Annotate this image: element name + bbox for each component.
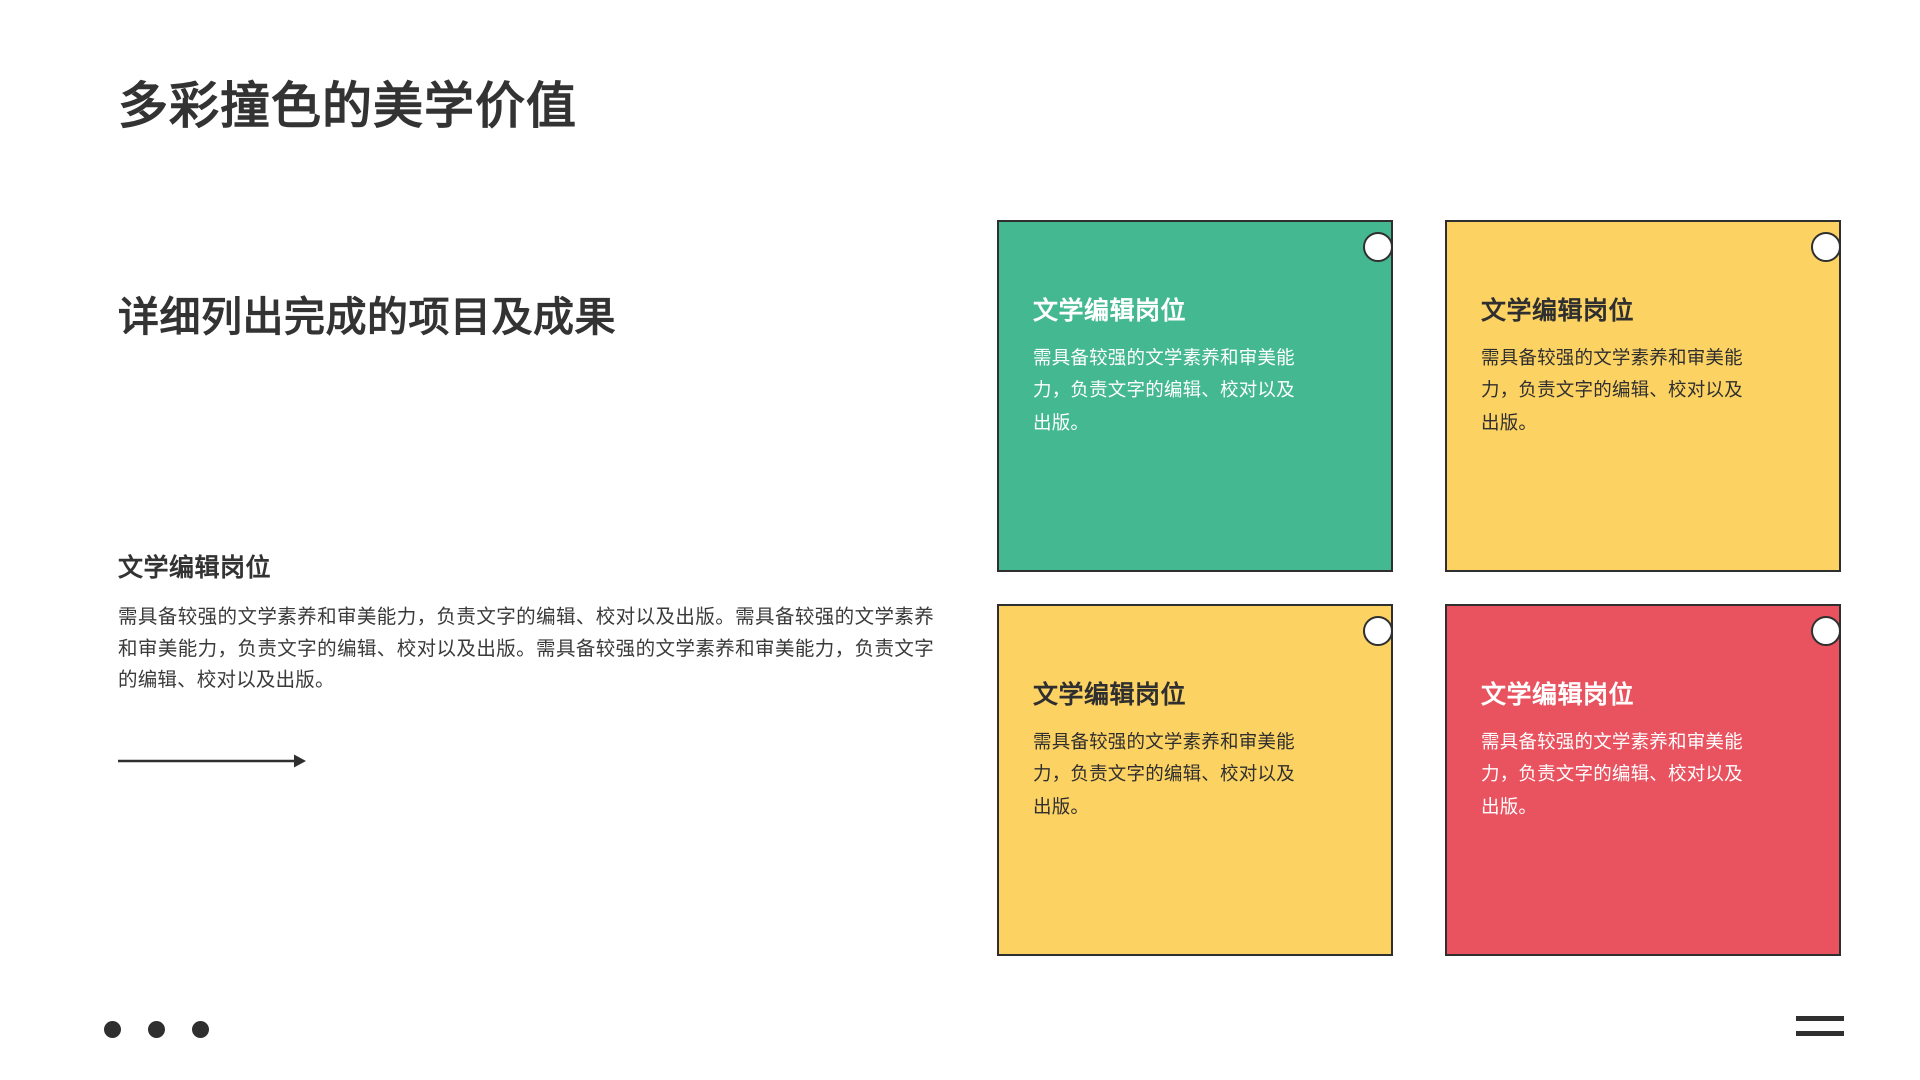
right-arrow-icon (118, 752, 306, 770)
card-body: 文学编辑岗位 需具备较强的文学素养和审美能力，负责文字的编辑、校对以及出版。 (1481, 680, 1749, 823)
card-description: 需具备较强的文学素养和审美能力，负责文字的编辑、校对以及出版。 (1481, 342, 1749, 439)
card-body: 文学编辑岗位 需具备较强的文学素养和审美能力，负责文字的编辑、校对以及出版。 (1481, 296, 1749, 439)
card-item[interactable]: 文学编辑岗位 需具备较强的文学素养和审美能力，负责文字的编辑、校对以及出版。 (997, 220, 1393, 572)
body-block-heading: 文学编辑岗位 (118, 548, 271, 584)
circle-badge-icon (1811, 616, 1841, 646)
menu-bar-top (1796, 1016, 1844, 1021)
card-item[interactable]: 文学编辑岗位 需具备较强的文学素养和审美能力，负责文字的编辑、校对以及出版。 (1445, 220, 1841, 572)
card-description: 需具备较强的文学素养和审美能力，负责文字的编辑、校对以及出版。 (1481, 726, 1749, 823)
equals-menu-icon[interactable] (1796, 1016, 1844, 1036)
card-item[interactable]: 文学编辑岗位 需具备较强的文学素养和审美能力，负责文字的编辑、校对以及出版。 (997, 604, 1393, 956)
card-grid: 文学编辑岗位 需具备较强的文学素养和审美能力，负责文字的编辑、校对以及出版。 文… (997, 220, 1841, 956)
footer-dots-decoration (104, 1021, 209, 1038)
body-block-paragraph: 需具备较强的文学素养和审美能力，负责文字的编辑、校对以及出版。需具备较强的文学素… (118, 602, 934, 697)
page-title: 多彩撞色的美学价值 (118, 76, 577, 136)
card-description: 需具备较强的文学素养和审美能力，负责文字的编辑、校对以及出版。 (1033, 342, 1301, 439)
dot-icon (104, 1021, 121, 1038)
slide-canvas: 多彩撞色的美学价值 详细列出完成的项目及成果 文学编辑岗位 需具备较强的文学素养… (0, 0, 1920, 1080)
card-description: 需具备较强的文学素养和审美能力，负责文字的编辑、校对以及出版。 (1033, 726, 1301, 823)
card-body: 文学编辑岗位 需具备较强的文学素养和审美能力，负责文字的编辑、校对以及出版。 (1033, 296, 1301, 439)
circle-badge-icon (1811, 232, 1841, 262)
card-body: 文学编辑岗位 需具备较强的文学素养和审美能力，负责文字的编辑、校对以及出版。 (1033, 680, 1301, 823)
dot-icon (192, 1021, 209, 1038)
dot-icon (148, 1021, 165, 1038)
card-title: 文学编辑岗位 (1033, 680, 1301, 710)
card-item[interactable]: 文学编辑岗位 需具备较强的文学素养和审美能力，负责文字的编辑、校对以及出版。 (1445, 604, 1841, 956)
card-title: 文学编辑岗位 (1481, 296, 1749, 326)
circle-badge-icon (1363, 616, 1393, 646)
section-subtitle: 详细列出完成的项目及成果 (118, 292, 616, 343)
left-content-column: 多彩撞色的美学价值 详细列出完成的项目及成果 文学编辑岗位 需具备较强的文学素养… (118, 0, 938, 1080)
menu-bar-bottom (1796, 1031, 1844, 1036)
circle-badge-icon (1363, 232, 1393, 262)
card-title: 文学编辑岗位 (1481, 680, 1749, 710)
card-title: 文学编辑岗位 (1033, 296, 1301, 326)
